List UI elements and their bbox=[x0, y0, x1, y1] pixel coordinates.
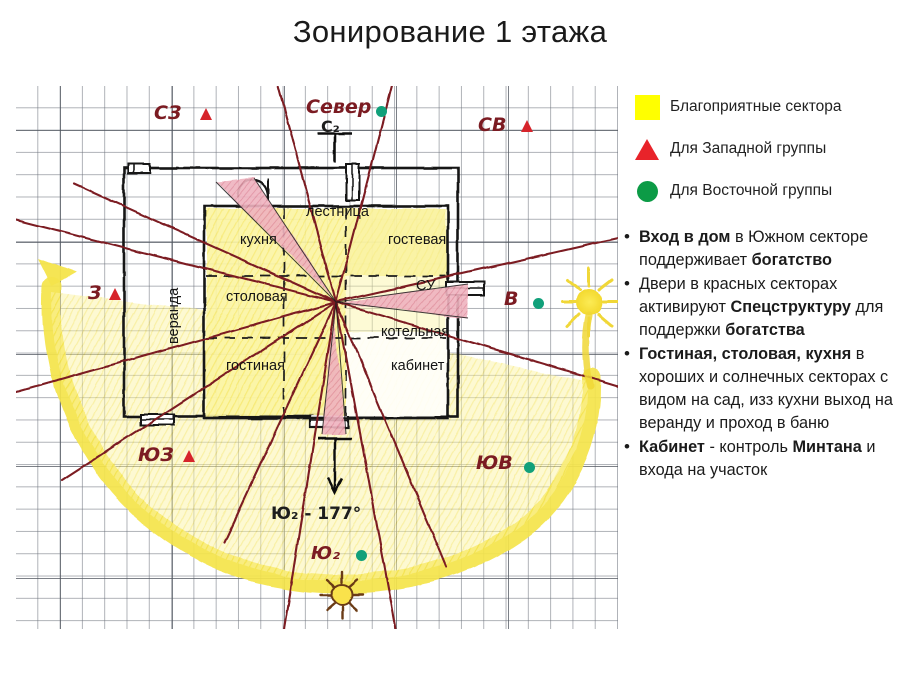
note-bullet-3: •Гостиная, столовая, кухня в хороших и с… bbox=[624, 343, 896, 435]
legend-label-favorable: Благоприятные сектора bbox=[670, 98, 842, 116]
window-symbol-west bbox=[128, 164, 150, 173]
note-bullet-text: Двери в красных секторах активируют Спец… bbox=[639, 273, 896, 342]
direction-label-east: В bbox=[504, 288, 518, 310]
room-label-kotelnaya: котельная bbox=[381, 324, 449, 340]
marker-dot-north bbox=[376, 106, 387, 117]
angle-annotation: Ю₂ - 177° bbox=[271, 504, 361, 524]
marker-dot-east bbox=[533, 298, 544, 309]
note-bullet-text: Вход в дом в Южном секторе поддерживает … bbox=[639, 226, 896, 272]
note-bullet-text: Кабинет - контроль Минтана и входа на уч… bbox=[639, 436, 896, 482]
yellow-square-icon bbox=[624, 95, 670, 120]
legend-item-favorable: Благоприятные сектора bbox=[624, 86, 896, 128]
graph-paper-canvas: веранда кухня лестница гостевая столовая… bbox=[16, 86, 618, 629]
direction-label-north-west: СЗ bbox=[154, 102, 181, 124]
sun-icon-south bbox=[321, 572, 363, 618]
direction-label-north-east: СВ bbox=[478, 114, 506, 136]
legend-label-west-group: Для Западной группы bbox=[670, 140, 826, 158]
marker-triangle-north-west bbox=[200, 108, 212, 120]
room-label-su: СУ bbox=[416, 278, 435, 294]
marker-dot-south-east bbox=[524, 462, 535, 473]
legend-item-east-group: Для Восточной группы bbox=[624, 170, 896, 212]
sun-icon-east bbox=[562, 268, 618, 386]
green-circle-icon bbox=[624, 181, 670, 202]
notes-bullet-list: •Вход в дом в Южном секторе поддерживает… bbox=[624, 226, 896, 482]
bullet-dot-icon: • bbox=[624, 273, 639, 342]
room-label-kuhnya: кухня bbox=[240, 232, 277, 248]
north-axis-marker bbox=[318, 134, 352, 162]
note-bullet-1: •Вход в дом в Южном секторе поддерживает… bbox=[624, 226, 896, 272]
note-bullet-2: •Двери в красных секторах активируют Спе… bbox=[624, 273, 896, 342]
legend-label-east-group: Для Восточной группы bbox=[670, 182, 832, 200]
direction-label-south-east: ЮВ bbox=[476, 452, 513, 474]
direction-label-north-sub: С₂ bbox=[321, 117, 340, 136]
legend-item-west-group: Для Западной группы bbox=[624, 128, 896, 170]
room-label-gostinaya: гостиная bbox=[226, 358, 285, 374]
bullet-dot-icon: • bbox=[624, 343, 639, 435]
bullet-dot-icon: • bbox=[624, 226, 639, 272]
marker-triangle-north-east bbox=[521, 120, 533, 132]
direction-label-north: Север bbox=[306, 96, 371, 118]
room-label-lestnitsa: лестница bbox=[306, 204, 369, 220]
note-bullet-4: •Кабинет - контроль Минтана и входа на у… bbox=[624, 436, 896, 482]
bullet-dot-icon: • bbox=[624, 436, 639, 482]
legend-and-notes-panel: Благоприятные сектора Для Западной групп… bbox=[624, 86, 896, 646]
room-label-stolovaya: столовая bbox=[226, 289, 288, 305]
note-bullet-text: Гостиная, столовая, кухня в хороших и со… bbox=[639, 343, 896, 435]
window-symbol-north bbox=[346, 164, 359, 200]
marker-triangle-south-west bbox=[183, 450, 195, 462]
page-title: Зонирование 1 этажа bbox=[0, 14, 900, 50]
red-triangle-icon bbox=[624, 139, 670, 160]
direction-label-south-west: ЮЗ bbox=[138, 444, 174, 466]
marker-dot-south-sub bbox=[356, 550, 367, 561]
marker-triangle-west bbox=[109, 288, 121, 300]
direction-label-west: З bbox=[88, 282, 102, 304]
direction-label-south-sub: Ю₂ bbox=[311, 543, 340, 564]
room-label-kabinet: кабинет bbox=[391, 358, 444, 374]
room-label-veranda: веранда bbox=[166, 288, 182, 344]
room-label-gostevaya: гостевая bbox=[388, 232, 446, 248]
